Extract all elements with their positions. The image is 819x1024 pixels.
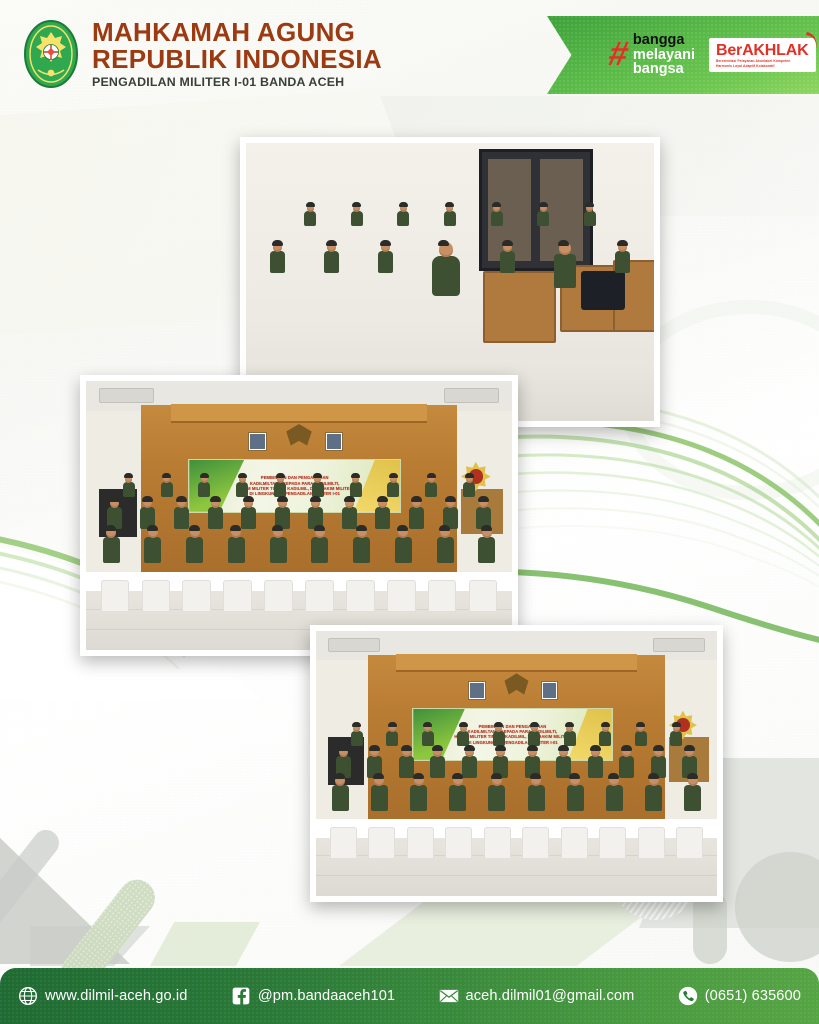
brand-block: MAHKAMAH AGUNG REPUBLIK INDONESIA PENGAD… [22,18,382,90]
photo-group-hall-salute[interactable]: PEMBINAAN DAN PENGARAHAN KADILMILTAMA KE… [310,625,723,902]
phone-icon [678,986,698,1006]
footer-email[interactable]: aceh.dilmil01@gmail.com [439,986,635,1006]
page-footer: www.dilmil-aceh.go.id @pm.bandaaceh101 a… [0,968,819,1024]
photo-group-hall-wide[interactable]: PEMBINAAN DAN PENGARAHAN KADILMILTAMA KE… [80,375,518,656]
page-title-line1: MAHKAMAH AGUNG [92,19,382,45]
page-title-line2: REPUBLIK INDONESIA [92,46,382,72]
bangga-word-2: melayani [633,48,695,63]
photo-2-scene: PEMBINAAN DAN PENGARAHAN KADILMILTAMA KE… [86,381,512,650]
photo-3-scene: PEMBINAAN DAN PENGARAHAN KADILMILTAMA KE… [316,631,717,896]
footer-website[interactable]: www.dilmil-aceh.go.id [18,986,187,1006]
envelope-icon [439,986,459,1006]
page-header: MAHKAMAH AGUNG REPUBLIK INDONESIA PENGAD… [0,0,819,110]
mahkamah-agung-crest-icon [22,18,80,90]
bangga-word-1: bangga [633,33,695,48]
berakhlak-subtitle: Berorientasi Pelayanan Akuntabel Kompete… [716,59,802,69]
brand-text: MAHKAMAH AGUNG REPUBLIK INDONESIA PENGAD… [92,19,382,88]
footer-email-label: aceh.dilmil01@gmail.com [466,988,635,1004]
berakhlak-title: BerAKHLAK [716,43,808,59]
header-ribbon: # bangga melayani bangsa BerAKHLAK Beror… [547,16,819,94]
footer-phone-label: (0651) 635600 [705,988,801,1004]
bangga-word-3: bangsa [633,62,695,77]
facebook-icon [231,986,251,1006]
photo-1-people [258,204,642,376]
berakhlak-swoosh-icon [805,31,819,51]
photo-3-people [328,721,705,848]
footer-website-label: www.dilmil-aceh.go.id [45,988,187,1004]
page-subtitle: PENGADILAN MILITER I-01 BANDA ACEH [92,76,382,88]
globe-icon [18,986,38,1006]
photo-2-people [99,472,499,601]
footer-facebook[interactable]: @pm.bandaaceh101 [231,986,395,1006]
hash-icon: # [606,41,631,68]
footer-phone[interactable]: (0651) 635600 [678,986,801,1006]
bangga-melayani-bangsa-logo: # bangga melayani bangsa [609,33,695,77]
footer-facebook-label: @pm.bandaaceh101 [258,988,395,1004]
berakhlak-logo: BerAKHLAK Berorientasi Pelayanan Akuntab… [709,38,816,73]
